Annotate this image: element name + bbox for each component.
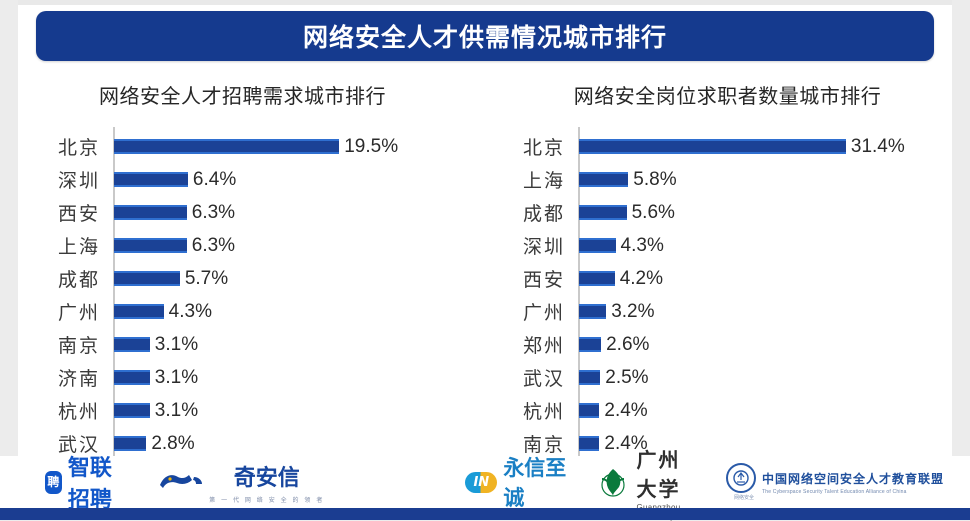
qianxin-label: 奇安信: [234, 460, 300, 492]
chart-row: 上海5.8%: [485, 163, 970, 196]
alliance-emblem-block: 网络安全: [726, 463, 762, 501]
chart-bar: [114, 172, 188, 187]
chart-value-label: 2.5%: [605, 367, 648, 389]
chart-category-label: 广州: [485, 298, 565, 325]
chart-value-label: 2.4%: [604, 400, 647, 422]
chart-category-label: 武汉: [485, 364, 565, 391]
chart-category-label: 成都: [20, 265, 100, 292]
chart-bar: [114, 337, 150, 352]
chart-bar: [579, 271, 615, 286]
chart-row: 深圳4.3%: [485, 229, 970, 262]
chart-value-label: 3.1%: [155, 367, 198, 389]
chart-bar: [579, 238, 616, 253]
chart-plot-left: 北京19.5%深圳6.4%西安6.3%上海6.3%成都5.7%广州4.3%南京3…: [0, 127, 485, 457]
chart-category-label: 济南: [20, 364, 100, 391]
chart-panel-jobseeker-count: 网络安全岗位求职者数量城市排行 北京31.4%上海5.8%成都5.6%深圳4.3…: [485, 72, 970, 467]
slide-page: 网络安全人才供需情况城市排行 网络安全人才招聘需求城市排行 北京19.5%深圳6…: [0, 0, 970, 520]
chart-category-label: 成都: [485, 199, 565, 226]
logo-group-left: 聘 智联招聘 奇安信 第 一 代 网 络 安 全 的 领 者: [45, 450, 350, 514]
yongxin-label: 永信至诚: [503, 452, 570, 512]
chart-category-label: 上海: [485, 166, 565, 193]
chart-row: 广州3.2%: [485, 295, 970, 328]
chart-row: 西安6.3%: [0, 196, 485, 229]
chart-row: 西安4.2%: [485, 262, 970, 295]
qianxin-tagline: 第 一 代 网 络 安 全 的 领 者: [209, 495, 324, 504]
chart-bar: [114, 139, 339, 154]
chart-bar: [114, 271, 180, 286]
page-top-edge: [0, 0, 970, 5]
charts-container: 网络安全人才招聘需求城市排行 北京19.5%深圳6.4%西安6.3%上海6.3%…: [0, 72, 970, 467]
chart-bar: [579, 337, 601, 352]
chart-value-label: 5.8%: [633, 169, 676, 191]
chart-title-right: 网络安全岗位求职者数量城市排行: [485, 80, 970, 109]
sponsor-logo-bar: 聘 智联招聘 奇安信 第 一 代 网 络 安 全 的 领 者: [0, 456, 970, 508]
alliance-text-block: 中国网络空间安全人才教育联盟 The Cyberspace Security T…: [762, 470, 944, 495]
chart-bar: [579, 370, 600, 385]
chart-row: 成都5.7%: [0, 262, 485, 295]
chart-row: 北京31.4%: [485, 130, 970, 163]
chart-value-label: 5.7%: [185, 268, 228, 290]
chart-value-label: 19.5%: [344, 136, 398, 158]
chart-category-label: 西安: [20, 199, 100, 226]
alliance-emblem-caption: 网络安全: [734, 494, 754, 501]
chart-title-left: 网络安全人才招聘需求城市排行: [0, 80, 485, 109]
qianxin-tiger-icon: [158, 471, 204, 493]
chart-bar: [114, 238, 187, 253]
chart-category-label: 杭州: [485, 397, 565, 424]
logo-zhaopin: 聘 智联招聘: [45, 450, 132, 514]
logo-cyber-talent-alliance: 网络安全 中国网络空间安全人才教育联盟 The Cyberspace Secur…: [726, 463, 944, 501]
chart-row: 广州4.3%: [0, 295, 485, 328]
chart-row: 成都5.6%: [485, 196, 970, 229]
chart-bar: [114, 436, 146, 451]
page-bottom-strip: [0, 508, 970, 520]
chart-category-label: 郑州: [485, 331, 565, 358]
alliance-label: 中国网络空间安全人才教育联盟: [762, 470, 944, 487]
chart-bar: [579, 139, 846, 154]
zhaopin-label: 智联招聘: [68, 450, 132, 514]
chart-value-label: 4.2%: [620, 268, 663, 290]
chart-value-label: 3.1%: [155, 400, 198, 422]
chart-row: 郑州2.6%: [485, 328, 970, 361]
chart-row: 北京19.5%: [0, 130, 485, 163]
chart-bar: [579, 172, 628, 187]
chart-category-label: 杭州: [20, 397, 100, 424]
chart-value-label: 2.6%: [606, 334, 649, 356]
page-title-banner: 网络安全人才供需情况城市排行: [36, 11, 934, 61]
alliance-label-en: The Cyberspace Security Talent Education…: [762, 489, 907, 495]
gzhu-label: 广州大学: [636, 444, 700, 502]
chart-value-label: 4.3%: [169, 301, 212, 323]
chart-value-label: 6.4%: [193, 169, 236, 191]
chart-bar: [114, 205, 187, 220]
qianxin-text-block: 奇安信 第 一 代 网 络 安 全 的 领 者: [209, 460, 324, 504]
chart-row: 南京3.1%: [0, 328, 485, 361]
chart-value-label: 3.1%: [155, 334, 198, 356]
chart-bar: [114, 403, 150, 418]
chart-plot-right: 北京31.4%上海5.8%成都5.6%深圳4.3%西安4.2%广州3.2%郑州2…: [485, 127, 970, 457]
chart-bar: [579, 403, 599, 418]
chart-row: 深圳6.4%: [0, 163, 485, 196]
zhaopin-mark-icon: 聘: [45, 471, 62, 494]
chart-row: 上海6.3%: [0, 229, 485, 262]
chart-panel-recruitment-demand: 网络安全人才招聘需求城市排行 北京19.5%深圳6.4%西安6.3%上海6.3%…: [0, 72, 485, 467]
chart-value-label: 6.3%: [192, 202, 235, 224]
chart-bar: [114, 304, 164, 319]
logo-qianxin: 奇安信 第 一 代 网 络 安 全 的 领 者: [158, 460, 324, 504]
chart-category-label: 深圳: [485, 232, 565, 259]
gzhu-emblem-icon: [596, 467, 630, 497]
chart-value-label: 31.4%: [851, 136, 905, 158]
chart-category-label: 西安: [485, 265, 565, 292]
chart-bar: [579, 205, 627, 220]
alliance-emblem-icon: [726, 463, 756, 493]
chart-row: 济南3.1%: [0, 361, 485, 394]
chart-value-label: 5.6%: [632, 202, 675, 224]
chart-category-label: 南京: [20, 331, 100, 358]
chart-category-label: 广州: [20, 298, 100, 325]
chart-bar: [114, 370, 150, 385]
chart-row: 杭州2.4%: [485, 394, 970, 427]
chart-row: 杭州3.1%: [0, 394, 485, 427]
chart-bar: [579, 304, 606, 319]
chart-row: 武汉2.5%: [485, 361, 970, 394]
chart-value-label: 6.3%: [192, 235, 235, 257]
logo-yongxinzhicheng: IN 永信至诚: [465, 452, 570, 512]
yongxin-in-icon: IN: [465, 472, 497, 493]
chart-value-label: 4.3%: [621, 235, 664, 257]
chart-category-label: 上海: [20, 232, 100, 259]
chart-category-label: 北京: [20, 133, 100, 160]
chart-category-label: 北京: [485, 133, 565, 160]
chart-value-label: 3.2%: [611, 301, 654, 323]
chart-category-label: 深圳: [20, 166, 100, 193]
page-title: 网络安全人才供需情况城市排行: [303, 18, 667, 54]
